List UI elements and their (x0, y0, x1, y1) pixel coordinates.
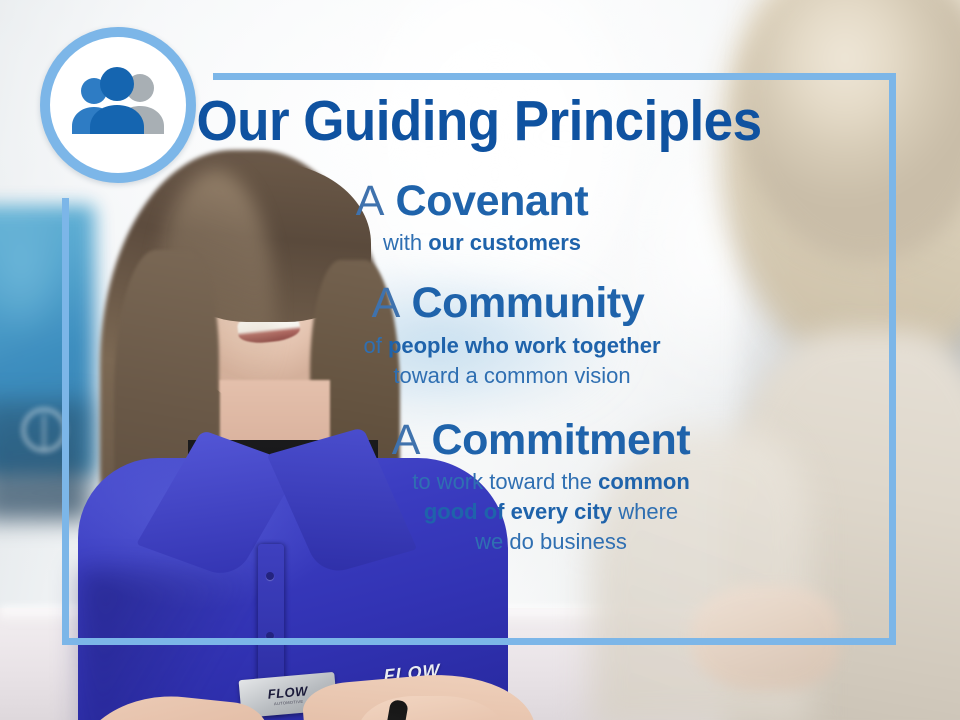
text-content: Our Guiding Principles A Covenant with o… (62, 73, 896, 645)
principle-covenant: A Covenant with our customers (62, 178, 882, 258)
blurred-vw-logo-icon (22, 408, 66, 452)
principle-subtext: with our customers (62, 228, 882, 258)
subtext-line: good of every city where (220, 497, 882, 527)
principle-commitment: A Commitment to work toward the common g… (62, 417, 882, 557)
principle-subtext: to work toward the common good of every … (200, 467, 882, 557)
page-title: Our Guiding Principles (91, 93, 867, 150)
principle-word: Covenant (396, 177, 589, 225)
principle-article: A (372, 279, 400, 327)
principle-subtext: of people who work together toward a com… (134, 331, 882, 391)
subtext-line: with our customers (82, 228, 882, 258)
principle-article: A (392, 416, 420, 464)
subtext-line: to work toward the common (220, 467, 882, 497)
principle-community: A Community of people who work together … (62, 280, 882, 390)
principle-heading: A Community (134, 280, 882, 326)
principle-heading: A Commitment (200, 417, 882, 463)
name-badge-subtitle: AUTOMOTIVE (274, 699, 304, 707)
principle-heading: A Covenant (62, 178, 882, 224)
principle-article: A (356, 177, 384, 225)
guiding-principles-graphic: FLOW AUTOMOTIVE FLOW (0, 0, 960, 720)
principle-word: Commitment (432, 416, 691, 464)
subtext-line: toward a common vision (142, 361, 882, 391)
subtext-line: we do business (220, 527, 882, 557)
subtext-line: of people who work together (142, 331, 882, 361)
principle-word: Community (411, 279, 644, 327)
principles-list: A Covenant with our customers A Communit… (62, 178, 882, 565)
